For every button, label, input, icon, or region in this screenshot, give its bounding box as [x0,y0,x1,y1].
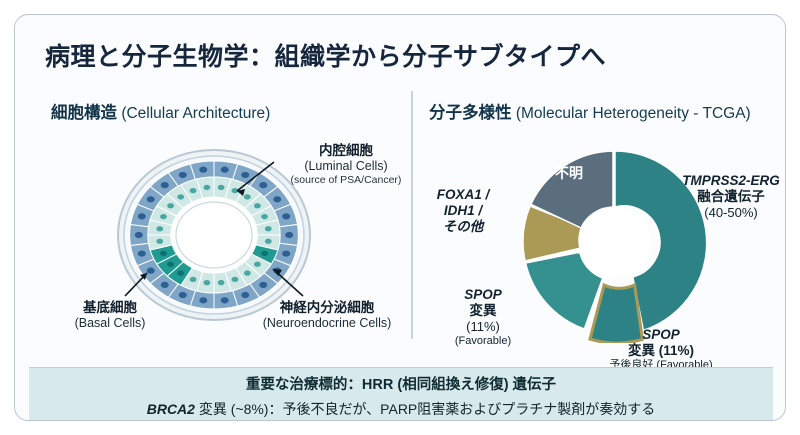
foxa1-line1: FOXA1 / [421,187,505,203]
tmprss2-jp: 融合遺伝子 [665,189,786,205]
luminal-label-en: (Luminal Cells) [273,159,419,174]
tmprss2-gene: TMPRSS2-ERG [665,173,786,189]
donut-label-spop-left: SPOP 変異 (11%) (Favorable) [425,287,541,348]
banner-gene-brca2: BRCA2 [147,401,195,417]
neuro-label-jp: 神経内分泌細胞 [241,300,413,316]
donut-center-hole [579,207,651,279]
label-basal-cells: 基底細胞 (Basal Cells) [45,300,175,331]
spop-left-note: (Favorable) [425,335,541,348]
slide-card: 病理と分子生物学：組織学から分子サブタイプへ 細胞構造 (Cellular Ar… [14,14,786,421]
basal-label-en: (Basal Cells) [45,316,175,331]
spop-bottom-jp: 変異 (11%) [628,343,694,358]
donut-label-unknown: 不明 [539,163,599,183]
spop-left-jp: 変異 [470,303,497,318]
luminal-label-sub: (source of PSA/Cancer) [273,174,419,186]
label-neuroendocrine-cells: 神経内分泌細胞 (Neuroendocrine Cells) [241,300,413,331]
spop-left-gene: SPOP [425,287,541,303]
luminal-label-jp: 内腔細胞 [273,143,419,159]
donut-label-tmprss2: TMPRSS2-ERG 融合遺伝子 (40-50%) [665,173,786,221]
basal-label-jp: 基底細胞 [45,300,175,316]
donut-label-foxa1: FOXA1 / IDH1 / その他 [421,187,505,236]
banner-line-2: BRCA2 変異 (~8%)：予後不良だが、PARP阻害薬およびプラチナ製剤が奏… [147,399,656,419]
neuro-label-en: (Neuroendocrine Cells) [241,316,413,331]
tmprss2-pct: (40-50%) [665,205,786,221]
spop-bottom-head: SPOP 変異 (11%) [571,327,751,359]
donut-label-spop-bottom: SPOP 変異 (11%) 予後良好 (Favorable) [571,327,751,373]
spop-left-pct: (11%) [425,319,541,335]
key-target-banner: 重要な治療標的：HRR (相同組換え修復) 遺伝子 BRCA2 変異 (~8%)… [29,367,773,421]
foxa1-line2: IDH1 / [421,203,505,219]
spop-left-head: SPOP 変異 [425,287,541,319]
spop-bottom-gene: SPOP [571,327,751,343]
banner-line-1: 重要な治療標的：HRR (相同組換え修復) 遺伝子 [246,373,556,394]
foxa1-line3: その他 [421,219,505,235]
label-luminal-cells: 内腔細胞 (Luminal Cells) (source of PSA/Canc… [273,143,419,186]
banner-line-2-rest: 変異 (~8%)：予後不良だが、PARP阻害薬およびプラチナ製剤が奏効する [195,401,655,417]
